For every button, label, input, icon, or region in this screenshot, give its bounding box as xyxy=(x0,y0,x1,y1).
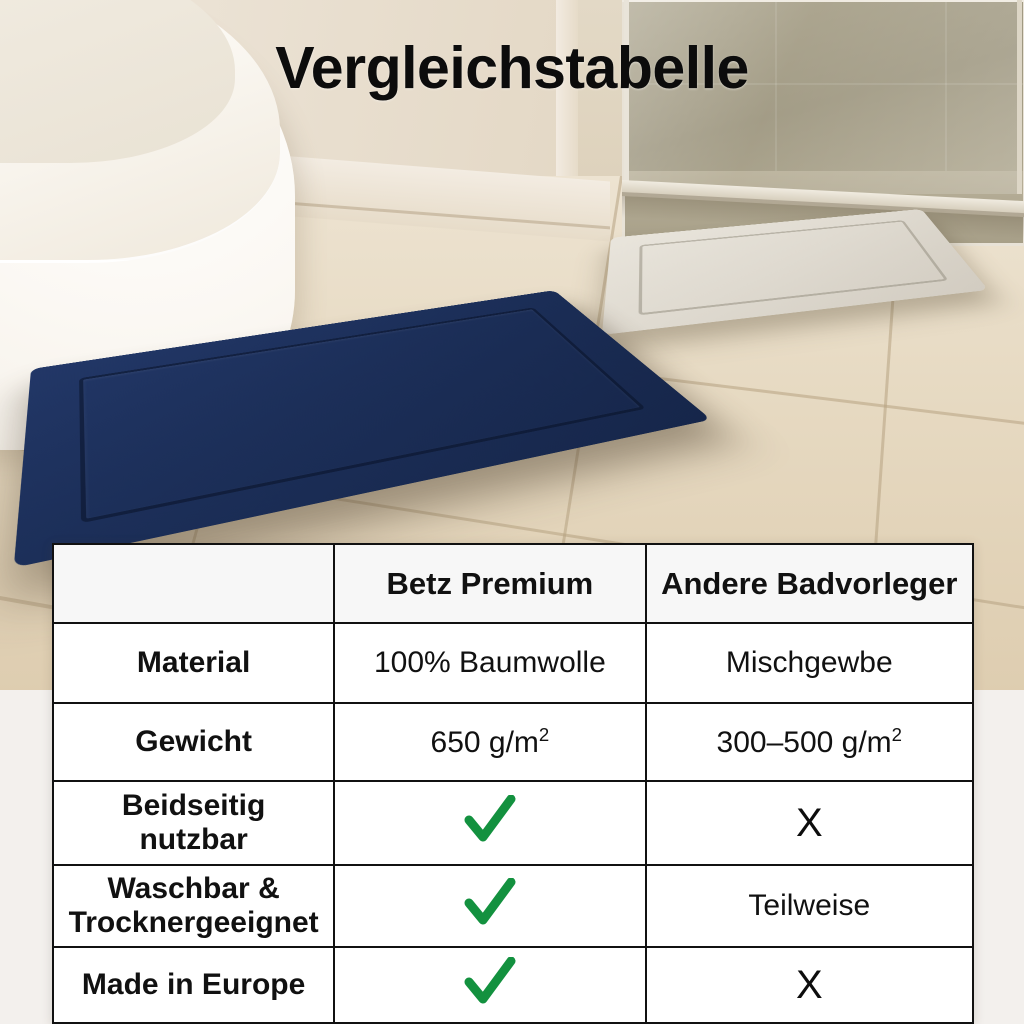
table-row: Made in Europe X xyxy=(54,947,972,1023)
unit-superscript: 2 xyxy=(539,724,549,745)
label-line-1: Beidseitig xyxy=(60,789,327,823)
table-row: Beidseitig nutzbar X xyxy=(54,781,972,865)
x-icon: X xyxy=(796,801,823,845)
table-header-row: Betz Premium Andere Badvorleger xyxy=(54,545,972,623)
cell-other-gewicht: X300–500 g/m2 xyxy=(646,703,972,781)
header-cell-blank xyxy=(54,545,334,623)
unit-superscript: 2 xyxy=(892,724,902,745)
label-line-2: nutzbar xyxy=(60,823,327,857)
cell-other-material: Mischgewbe xyxy=(646,623,972,703)
row-label-waschbar: Waschbar & Trocknergeeignet xyxy=(54,865,334,947)
row-label-made-in-europe: Made in Europe xyxy=(54,947,334,1023)
table-body: Material 100% Baumwolle Mischgewbe Gewic… xyxy=(54,623,972,1023)
table-row: Gewicht 650 g/m2 X300–500 g/m2 xyxy=(54,703,972,781)
row-label-gewicht: Gewicht xyxy=(54,703,334,781)
table-row: Material 100% Baumwolle Mischgewbe xyxy=(54,623,972,703)
cell-betz-gewicht: 650 g/m2 xyxy=(334,703,645,781)
check-icon xyxy=(463,795,517,843)
page-title: Vergleichstabelle xyxy=(0,34,1024,102)
label-line-1: Waschbar & xyxy=(60,872,327,906)
label-line-2: Trocknergeeignet xyxy=(60,906,327,940)
comparison-table: Betz Premium Andere Badvorleger Material… xyxy=(54,545,972,1024)
value-text-other: 300–500 g/m xyxy=(717,726,892,759)
header-cell-other: Andere Badvorleger xyxy=(646,545,972,623)
cell-other-made: X xyxy=(646,947,972,1023)
cell-betz-material: 100% Baumwolle xyxy=(334,623,645,703)
table-header: Betz Premium Andere Badvorleger xyxy=(54,545,972,623)
cell-other-waschbar: Teilweise xyxy=(646,865,972,947)
header-cell-betz: Betz Premium xyxy=(334,545,645,623)
cell-betz-beidseitig xyxy=(334,781,645,865)
cell-other-beidseitig: X xyxy=(646,781,972,865)
comparison-table-wrapper: Betz Premium Andere Badvorleger Material… xyxy=(52,543,974,1024)
value-text: 650 g/m xyxy=(431,726,539,759)
check-icon xyxy=(463,957,517,1005)
table-row: Waschbar & Trocknergeeignet Teilweise xyxy=(54,865,972,947)
x-icon: X xyxy=(796,963,823,1007)
cell-betz-waschbar xyxy=(334,865,645,947)
page-root: Vergleichstabelle Betz Premium Andere Ba… xyxy=(0,0,1024,1024)
row-label-material: Material xyxy=(54,623,334,703)
cell-betz-made xyxy=(334,947,645,1023)
row-label-beidseitig: Beidseitig nutzbar xyxy=(54,781,334,865)
check-icon xyxy=(463,878,517,926)
